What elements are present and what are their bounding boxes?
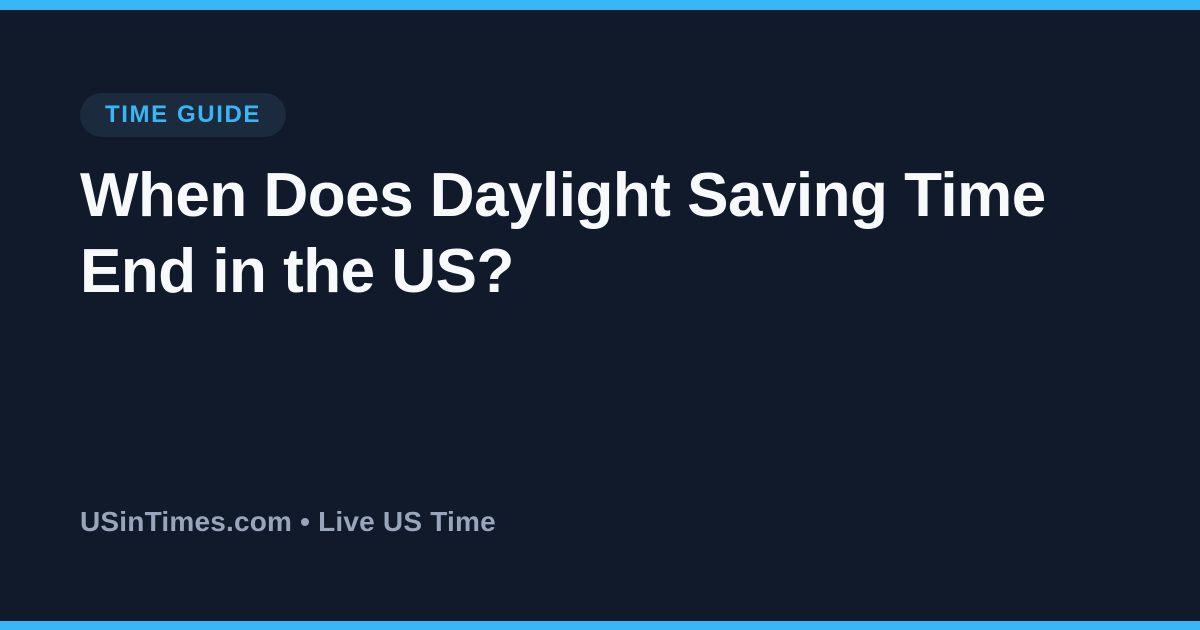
category-badge: TIME GUIDE [80, 93, 286, 137]
card-content: TIME GUIDE When Does Daylight Saving Tim… [80, 0, 1130, 630]
category-badge-label: TIME GUIDE [105, 103, 261, 127]
bottom-accent-bar [0, 621, 1200, 630]
page-title: When Does Daylight Saving Time End in th… [80, 158, 1100, 310]
footer-attribution: USinTimes.com • Live US Time [80, 508, 496, 536]
card-footer: USinTimes.com • Live US Time [80, 508, 496, 536]
og-share-card: TIME GUIDE When Does Daylight Saving Tim… [0, 0, 1200, 630]
